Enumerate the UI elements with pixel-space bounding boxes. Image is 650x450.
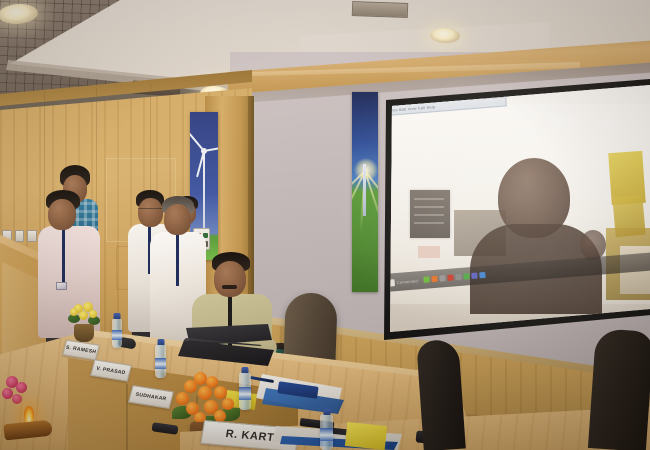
sun-glow-icon bbox=[354, 158, 378, 182]
window-menubar[interactable]: File Edit View Call Help bbox=[391, 105, 436, 113]
taskbar-app-icon[interactable] bbox=[431, 276, 437, 282]
remote-ceiling-light-icon bbox=[542, 112, 582, 128]
wall-socket[interactable] bbox=[15, 230, 25, 242]
lanyard bbox=[176, 234, 179, 286]
sun-rays-poster bbox=[352, 92, 378, 292]
office-chair-foreground-left[interactable] bbox=[416, 339, 466, 450]
wall-socket[interactable] bbox=[27, 230, 37, 242]
nameplate-text: SUDHAKAR bbox=[135, 392, 167, 403]
bottle-label bbox=[320, 428, 333, 440]
remote-framed-poster bbox=[410, 190, 450, 238]
taskbar-app-icon[interactable] bbox=[439, 275, 445, 281]
water-bottle-1[interactable] bbox=[112, 318, 122, 348]
turbine-mast bbox=[363, 164, 366, 216]
taskbar-app-icon[interactable] bbox=[471, 273, 477, 279]
bottle-label bbox=[112, 330, 122, 340]
taskbar-app-icon[interactable] bbox=[455, 274, 461, 280]
taskbar-status-label: Connected bbox=[396, 278, 417, 285]
yellow-flower-arrangement bbox=[62, 300, 106, 340]
projected-image: Video Call File Edit View Call Help Conn… bbox=[362, 78, 650, 340]
yellow-note[interactable] bbox=[345, 422, 387, 450]
flower-vase bbox=[74, 324, 94, 342]
projector-screen[interactable]: Video Call File Edit View Call Help Conn… bbox=[362, 78, 650, 340]
ceiling-vent-icon bbox=[352, 1, 408, 18]
head bbox=[164, 204, 191, 235]
water-bottle-2[interactable] bbox=[155, 344, 166, 378]
nameplate-text: V. PRASAD bbox=[96, 365, 127, 375]
table-panel-seam bbox=[126, 384, 128, 450]
office-chair-foreground-right[interactable] bbox=[588, 328, 650, 450]
taskbar-app-icon[interactable] bbox=[447, 274, 453, 280]
taskbar-app-icon[interactable] bbox=[463, 273, 469, 279]
remote-wall-paper bbox=[418, 246, 440, 258]
head bbox=[48, 199, 76, 230]
remote-ceiling-light-icon bbox=[594, 118, 620, 130]
taskbar-app-icon[interactable] bbox=[479, 272, 485, 278]
water-bottle-4[interactable] bbox=[320, 414, 333, 450]
bottle-label bbox=[155, 358, 166, 370]
bottle-cap bbox=[323, 409, 330, 415]
lamp-body bbox=[3, 420, 52, 441]
turbine-blade-icon bbox=[203, 145, 218, 152]
head bbox=[214, 261, 246, 297]
bottle-cap bbox=[157, 339, 164, 345]
mustache bbox=[222, 285, 237, 289]
nameplate-text: R. KART bbox=[225, 428, 276, 444]
id-badge bbox=[56, 282, 67, 290]
bottle-cap bbox=[114, 313, 121, 319]
conference-room-screenshot: Video Call File Edit View Call Help Conn… bbox=[0, 0, 650, 450]
nameplate-text: S. RAMESH bbox=[65, 345, 97, 356]
taskbar-app-icon[interactable] bbox=[424, 276, 430, 282]
lanyard bbox=[62, 228, 65, 284]
ceremonial-oil-lamp bbox=[0, 400, 66, 450]
